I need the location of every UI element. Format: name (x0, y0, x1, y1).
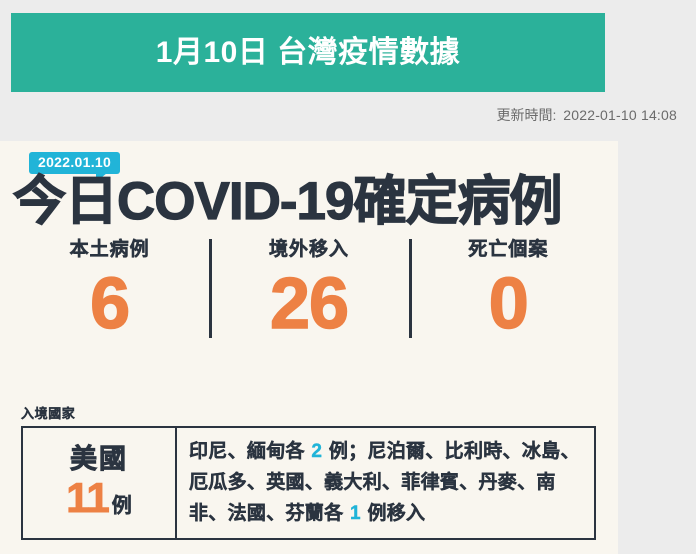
stat-deaths: 死亡個案 0 (409, 237, 608, 344)
update-time-label: 更新時間: (496, 107, 556, 123)
stat-label: 本土病例 (14, 237, 205, 264)
entry-countries-table: 美國 11 例 印尼、緬甸各 2 例；尼泊爾、比利時、冰島、厄瓜多、英國、義大利… (21, 426, 596, 540)
stat-value: 26 (213, 264, 404, 345)
update-time-row: 更新時間: 2022-01-10 14:08 (0, 105, 677, 125)
entry-top-country-unit: 例 (112, 489, 132, 518)
entry-detail-count-1: 2 (310, 441, 323, 462)
stat-local-cases: 本土病例 6 (10, 237, 209, 344)
update-time-value: 2022-01-10 14:08 (563, 107, 677, 123)
stat-label: 境外移入 (213, 237, 404, 264)
entry-countries-block: 入境國家 美國 11 例 印尼、緬甸各 2 例；尼泊爾、比利時、冰島、厄瓜多、英… (21, 403, 596, 540)
entry-countries-caption: 入境國家 (21, 403, 596, 422)
entry-top-country-count: 11 (66, 476, 108, 520)
entry-top-country-name: 美國 (70, 444, 128, 475)
entry-detail-count-3: 1 (349, 503, 362, 524)
stat-label: 死亡個案 (413, 237, 604, 264)
stat-value: 6 (14, 264, 205, 345)
entry-countries-detail: 印尼、緬甸各 2 例；尼泊爾、比利時、冰島、厄瓜多、英國、義大利、菲律賓、丹麥、… (177, 428, 594, 538)
entry-top-country-cell: 美國 11 例 (23, 428, 177, 538)
entry-detail-text-0: 印尼、緬甸各 (189, 441, 310, 462)
stat-value: 0 (413, 264, 604, 345)
page-title: 今日COVID-19確定病例 (13, 174, 609, 230)
entry-detail-text-4: 例移入 (362, 503, 425, 524)
entry-top-country-countline: 11 例 (66, 476, 131, 520)
stats-row: 本土病例 6 境外移入 26 死亡個案 0 (10, 237, 608, 344)
covid-summary-card: 2022.01.10 今日COVID-19確定病例 本土病例 6 境外移入 26… (0, 141, 618, 554)
banner-title: 1月10日 台灣疫情數據 (156, 38, 460, 68)
stat-imported-cases: 境外移入 26 (209, 237, 408, 344)
page-banner: 1月10日 台灣疫情數據 (11, 13, 605, 92)
